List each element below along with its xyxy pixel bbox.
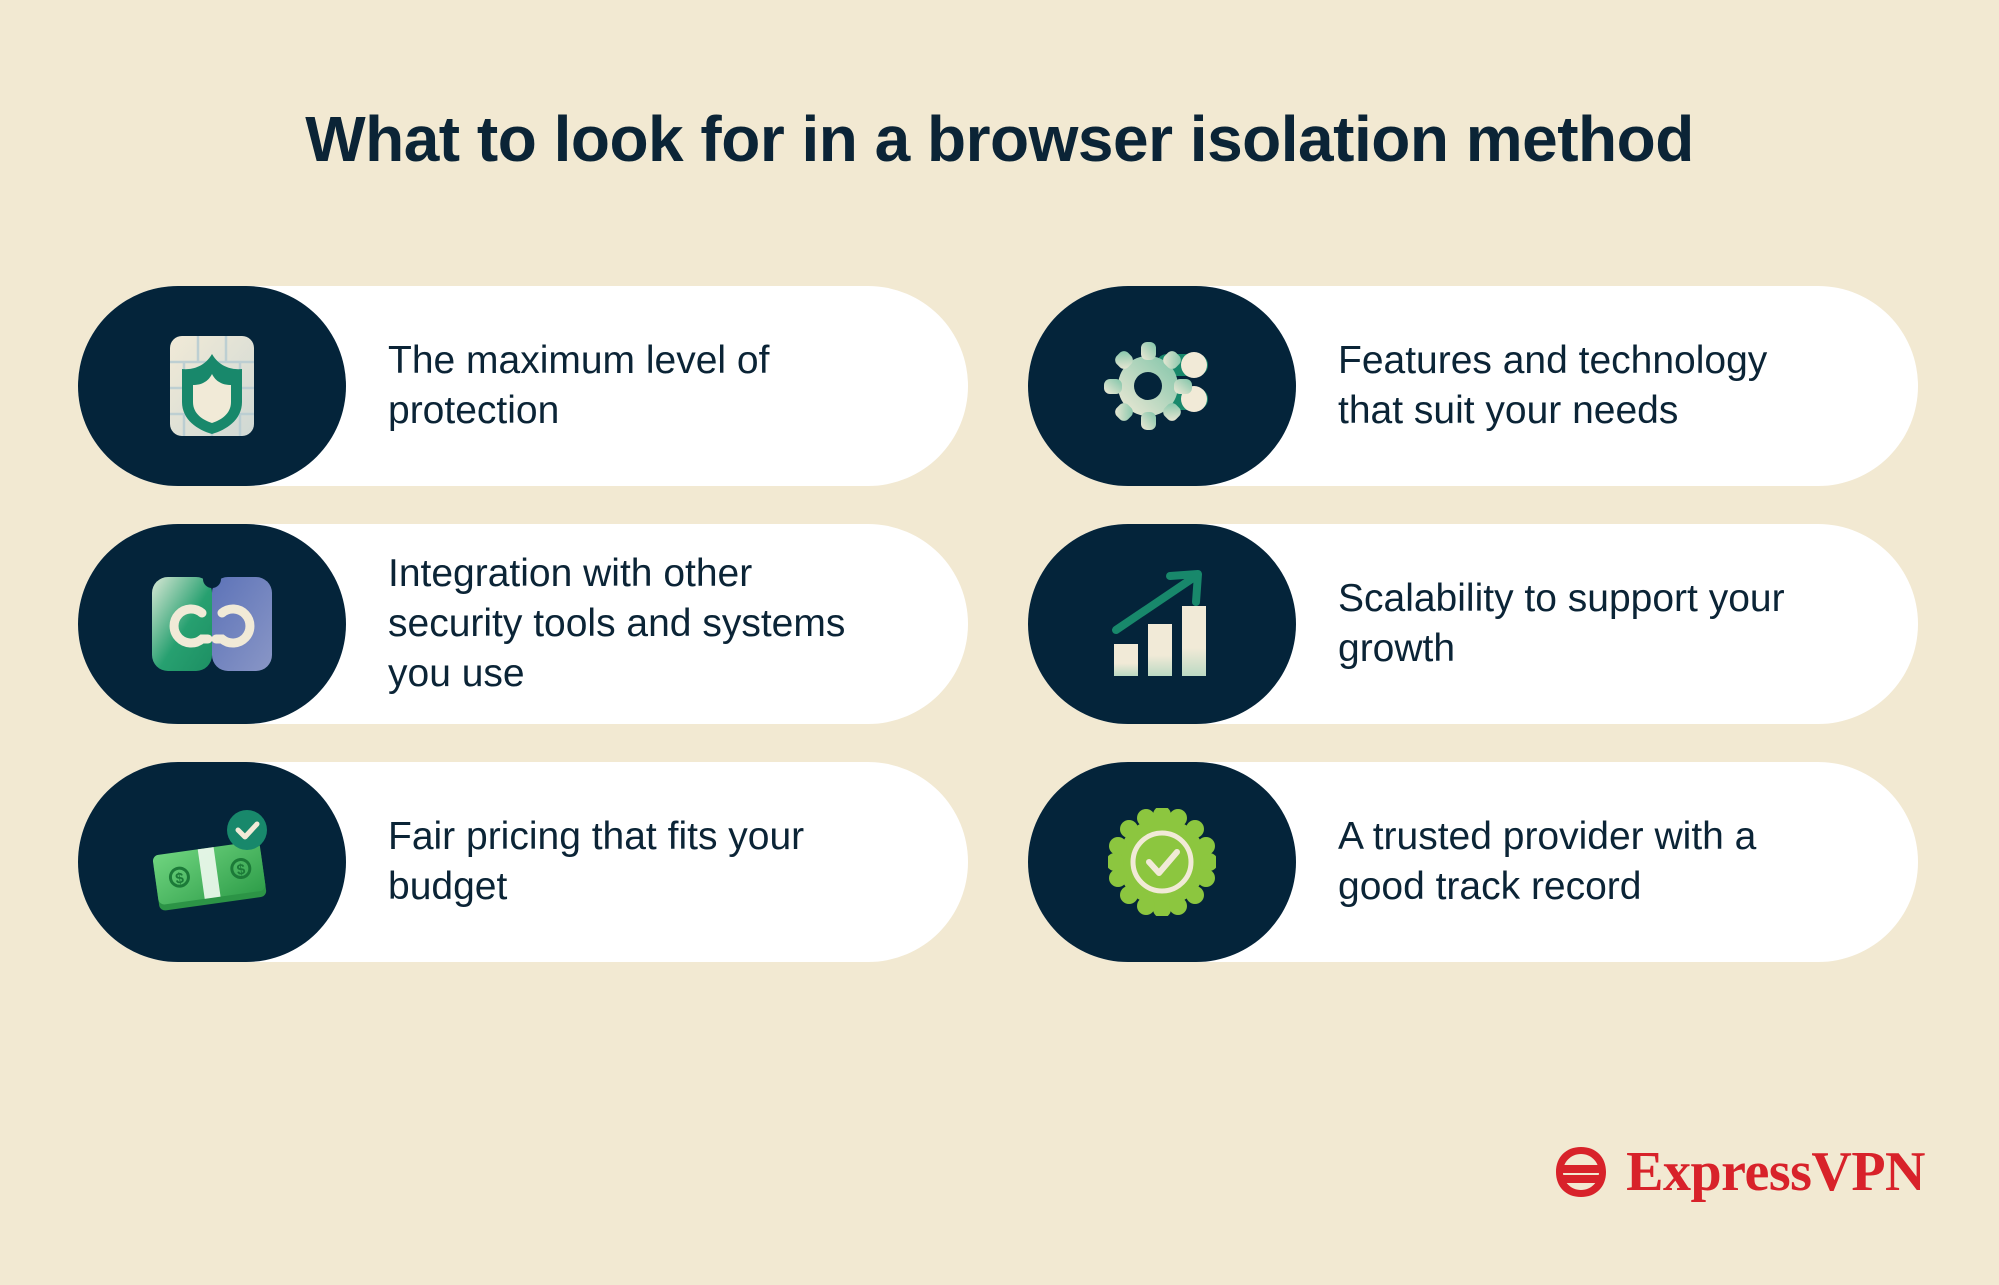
card-label: The maximum level of protection (346, 336, 906, 436)
card-label: A trusted provider with a good track rec… (1296, 812, 1856, 912)
card-fair-pricing[interactable]: $ $ Fair pricing that fits your budget (78, 762, 968, 962)
gear-sliders-icon (1104, 334, 1220, 438)
icon-badge (78, 286, 346, 486)
icon-badge (78, 524, 346, 724)
card-row: The maximum level of protection (78, 286, 1918, 486)
infographic-page: What to look for in a browser isolation … (0, 0, 1999, 1285)
icon-badge: $ $ (78, 762, 346, 962)
expressvpn-logo-mark (1550, 1141, 1612, 1203)
card-label: Fair pricing that fits your budget (346, 812, 906, 912)
cards-grid: The maximum level of protection (78, 286, 1918, 1000)
verified-badge-icon (1108, 808, 1216, 916)
card-row: Integration with other security tools an… (78, 524, 1918, 724)
icon-badge (1028, 286, 1296, 486)
icon-badge (1028, 762, 1296, 962)
card-max-protection[interactable]: The maximum level of protection (78, 286, 968, 486)
money-check-icon: $ $ (147, 810, 277, 914)
card-label: Scalability to support your growth (1296, 574, 1856, 674)
card-label: Features and technology that suit your n… (1296, 336, 1856, 436)
card-integration[interactable]: Integration with other security tools an… (78, 524, 968, 724)
card-row: $ $ Fair pricing that fits your budget (78, 762, 1918, 962)
card-trusted-provider[interactable]: A trusted provider with a good track rec… (1028, 762, 1918, 962)
icon-badge (1028, 524, 1296, 724)
card-features-tech[interactable]: Features and technology that suit your n… (1028, 286, 1918, 486)
card-label: Integration with other security tools an… (346, 549, 906, 699)
chain-link-icon (150, 571, 274, 677)
card-scalability[interactable]: Scalability to support your growth (1028, 524, 1918, 724)
page-title: What to look for in a browser isolation … (0, 104, 1999, 174)
shield-wall-icon (156, 330, 268, 442)
bar-chart-growth-icon (1104, 568, 1220, 680)
expressvpn-logo-text: ExpressVPN (1626, 1140, 1925, 1204)
expressvpn-logo[interactable]: ExpressVPN (1550, 1140, 1925, 1204)
